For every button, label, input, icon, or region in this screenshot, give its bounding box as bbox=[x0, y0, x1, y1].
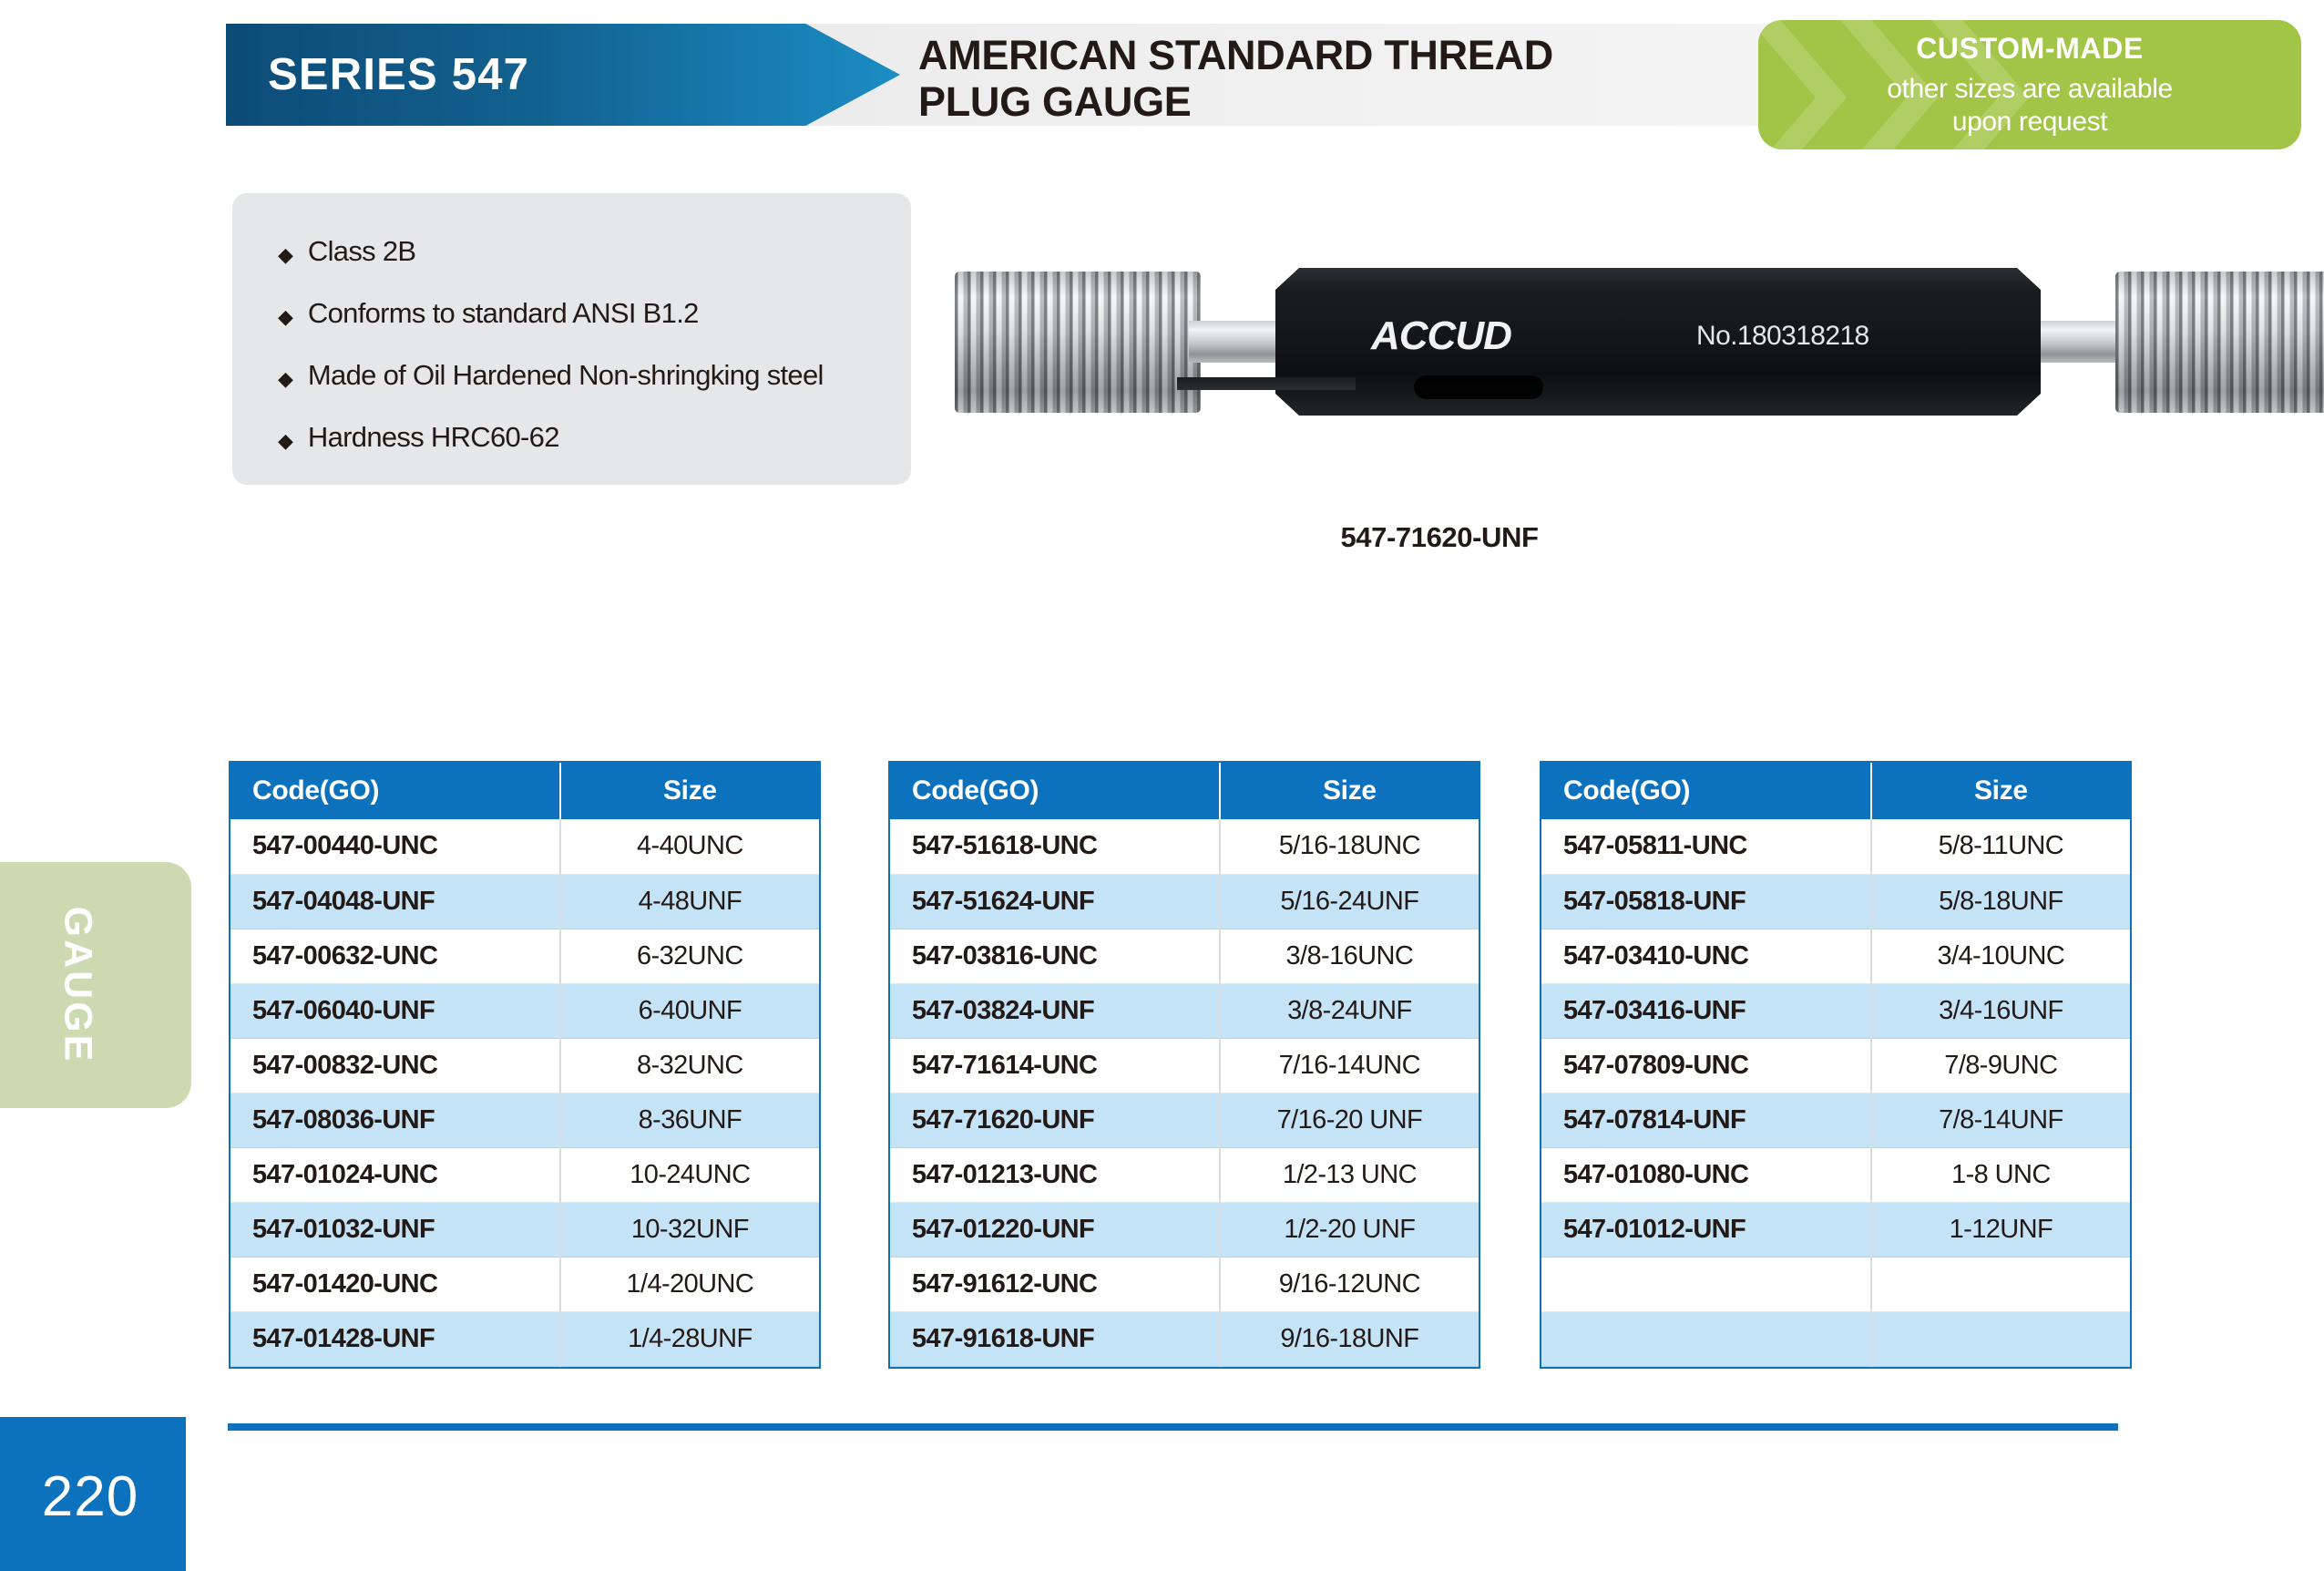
spec-item: ◆ Hardness HRC60-62 bbox=[278, 423, 911, 451]
gauge-tab bbox=[1177, 377, 1356, 390]
spec-item-label: Class 2B bbox=[308, 237, 415, 265]
product-caption: 547-71620-UNF bbox=[947, 521, 1931, 554]
cell-size bbox=[1871, 1311, 2130, 1366]
table-row: 547-00440-UNC4-40UNC bbox=[230, 819, 819, 874]
diamond-bullet-icon: ◆ bbox=[278, 307, 293, 327]
thread-right-icon bbox=[2115, 272, 2324, 413]
table-row bbox=[1541, 1257, 2130, 1311]
product-image: ACCUD No.180318218 bbox=[947, 248, 1931, 435]
column-header-code: Code(GO) bbox=[230, 763, 560, 819]
cell-code: 547-07809-UNC bbox=[1541, 1038, 1871, 1093]
table-header-row: Code(GO) Size bbox=[230, 763, 819, 819]
cell-code: 547-01024-UNC bbox=[230, 1147, 560, 1202]
table-header-row: Code(GO) Size bbox=[890, 763, 1479, 819]
page-number-block: 220 bbox=[0, 1417, 186, 1571]
cell-size: 7/8-9UNC bbox=[1871, 1038, 2130, 1093]
cell-code: 547-01080-UNC bbox=[1541, 1147, 1871, 1202]
cell-size: 1/4-28UNF bbox=[560, 1311, 819, 1366]
cell-code: 547-03410-UNC bbox=[1541, 929, 1871, 983]
table-row: 547-05811-UNC5/8-11UNC bbox=[1541, 819, 2130, 874]
table-header-row: Code(GO) Size bbox=[1541, 763, 2130, 819]
table-row: 547-01428-UNF1/4-28UNF bbox=[230, 1311, 819, 1366]
table-body-2: 547-51618-UNC5/16-18UNC547-51624-UNF5/16… bbox=[890, 819, 1479, 1366]
cell-code bbox=[1541, 1257, 1871, 1311]
cell-size: 10-32UNF bbox=[560, 1202, 819, 1257]
diamond-bullet-icon: ◆ bbox=[278, 245, 293, 265]
cell-code: 547-01213-UNC bbox=[890, 1147, 1220, 1202]
cell-code: 547-01220-UNF bbox=[890, 1202, 1220, 1257]
table-row: 547-01012-UNF1-12UNF bbox=[1541, 1202, 2130, 1257]
table-row: 547-01032-UNF10-32UNF bbox=[230, 1202, 819, 1257]
cell-code: 547-05811-UNC bbox=[1541, 819, 1871, 874]
page-title: AMERICAN STANDARD THREAD PLUG GAUGE bbox=[918, 33, 1766, 126]
specifications-panel: ◆ Class 2B ◆ Conforms to standard ANSI B… bbox=[232, 193, 911, 485]
cell-size: 7/16-20 UNF bbox=[1220, 1093, 1479, 1147]
cell-size: 1-12UNF bbox=[1871, 1202, 2130, 1257]
cell-size: 1/2-13 UNC bbox=[1220, 1147, 1479, 1202]
table-row: 547-03410-UNC3/4-10UNC bbox=[1541, 929, 2130, 983]
product-table-1: Code(GO) Size 547-00440-UNC4-40UNC547-04… bbox=[229, 761, 821, 1369]
table-row: 547-91618-UNF9/16-18UNF bbox=[890, 1311, 1479, 1366]
table-row: 547-07814-UNF7/8-14UNF bbox=[1541, 1093, 2130, 1147]
product-table-3: Code(GO) Size 547-05811-UNC5/8-11UNC547-… bbox=[1540, 761, 2132, 1369]
cell-code: 547-71620-UNF bbox=[890, 1093, 1220, 1147]
cell-code: 547-06040-UNF bbox=[230, 983, 560, 1038]
column-header-size: Size bbox=[560, 763, 819, 819]
cell-size: 8-36UNF bbox=[560, 1093, 819, 1147]
table-row: 547-71614-UNC7/16-14UNC bbox=[890, 1038, 1479, 1093]
cell-size: 1/2-20 UNF bbox=[1220, 1202, 1479, 1257]
footer-rule bbox=[228, 1423, 2118, 1431]
cell-size: 10-24UNC bbox=[560, 1147, 819, 1202]
table-row: 547-00832-UNC8-32UNC bbox=[230, 1038, 819, 1093]
cell-code: 547-01032-UNF bbox=[230, 1202, 560, 1257]
cell-code: 547-51624-UNF bbox=[890, 874, 1220, 929]
table-row: 547-01024-UNC10-24UNC bbox=[230, 1147, 819, 1202]
table-row: 547-03824-UNF3/8-24UNF bbox=[890, 983, 1479, 1038]
cell-code: 547-03824-UNF bbox=[890, 983, 1220, 1038]
cell-size: 1/4-20UNC bbox=[560, 1257, 819, 1311]
cell-size: 3/8-24UNF bbox=[1220, 983, 1479, 1038]
spec-item: ◆ Class 2B bbox=[278, 237, 911, 265]
cell-size: 6-40UNF bbox=[560, 983, 819, 1038]
cell-size: 9/16-12UNC bbox=[1220, 1257, 1479, 1311]
shaft-right bbox=[2032, 321, 2127, 363]
table-row: 547-04048-UNF4-48UNF bbox=[230, 874, 819, 929]
table-body-3: 547-05811-UNC5/8-11UNC547-05818-UNF5/8-1… bbox=[1541, 819, 2130, 1366]
cell-size: 9/16-18UNF bbox=[1220, 1311, 1479, 1366]
cell-size: 3/4-16UNF bbox=[1871, 983, 2130, 1038]
table-row: 547-91612-UNC9/16-12UNC bbox=[890, 1257, 1479, 1311]
badge-subtitle-line2: upon request bbox=[1952, 107, 2107, 137]
spec-item-label: Conforms to standard ANSI B1.2 bbox=[308, 299, 699, 327]
serial-number: No.180318218 bbox=[1696, 321, 1869, 352]
spec-item: ◆ Conforms to standard ANSI B1.2 bbox=[278, 299, 911, 327]
cell-code: 547-00440-UNC bbox=[230, 819, 560, 874]
table-row: 547-01080-UNC1-8 UNC bbox=[1541, 1147, 2130, 1202]
table-row: 547-08036-UNF8-36UNF bbox=[230, 1093, 819, 1147]
cell-code: 547-07814-UNF bbox=[1541, 1093, 1871, 1147]
cell-size: 5/16-24UNF bbox=[1220, 874, 1479, 929]
thread-left-icon bbox=[955, 272, 1201, 413]
cell-code: 547-08036-UNF bbox=[230, 1093, 560, 1147]
diamond-bullet-icon: ◆ bbox=[278, 431, 293, 451]
badge-subtitle-line1: other sizes are available bbox=[1887, 74, 2173, 104]
section-tab-gauge: GAUGE bbox=[0, 862, 191, 1108]
page-title-line1: AMERICAN STANDARD THREAD bbox=[918, 32, 1553, 78]
page-title-line2: PLUG GAUGE bbox=[918, 79, 1766, 126]
gauge-body: ACCUD No.180318218 bbox=[1275, 268, 2041, 416]
table-row: 547-00632-UNC6-32UNC bbox=[230, 929, 819, 983]
catalog-page: SERIES 547 AMERICAN STANDARD THREAD PLUG… bbox=[0, 0, 2324, 1571]
spec-item: ◆ Made of Oil Hardened Non-shringking st… bbox=[278, 361, 911, 389]
cell-size: 8-32UNC bbox=[560, 1038, 819, 1093]
table-row: 547-03416-UNF3/4-16UNF bbox=[1541, 983, 2130, 1038]
cell-code: 547-05818-UNF bbox=[1541, 874, 1871, 929]
table-row: 547-71620-UNF7/16-20 UNF bbox=[890, 1093, 1479, 1147]
cell-code: 547-91618-UNF bbox=[890, 1311, 1220, 1366]
custom-made-badge: CUSTOM-MADE other sizes are available up… bbox=[1758, 20, 2301, 149]
cell-code: 547-51618-UNC bbox=[890, 819, 1220, 874]
cell-code: 547-04048-UNF bbox=[230, 874, 560, 929]
diamond-bullet-icon: ◆ bbox=[278, 369, 293, 389]
cell-size: 4-40UNC bbox=[560, 819, 819, 874]
table-row: 547-03816-UNC3/8-16UNC bbox=[890, 929, 1479, 983]
cell-code: 547-91612-UNC bbox=[890, 1257, 1220, 1311]
gauge-slot bbox=[1414, 375, 1543, 399]
section-tab-label: GAUGE bbox=[56, 907, 100, 1064]
cell-size: 7/8-14UNF bbox=[1871, 1093, 2130, 1147]
badge-title: CUSTOM-MADE bbox=[1916, 32, 2144, 66]
brand-logo: ACCUD bbox=[1371, 313, 1511, 359]
cell-code: 547-03816-UNC bbox=[890, 929, 1220, 983]
cell-size: 5/8-11UNC bbox=[1871, 819, 2130, 874]
table-row: 547-51624-UNF5/16-24UNF bbox=[890, 874, 1479, 929]
cell-size: 5/16-18UNC bbox=[1220, 819, 1479, 874]
cell-code: 547-00832-UNC bbox=[230, 1038, 560, 1093]
cell-code: 547-01428-UNF bbox=[230, 1311, 560, 1366]
shaft-left bbox=[1189, 321, 1285, 363]
spec-item-label: Hardness HRC60-62 bbox=[308, 423, 559, 451]
cell-code: 547-71614-UNC bbox=[890, 1038, 1220, 1093]
table-row: 547-01213-UNC1/2-13 UNC bbox=[890, 1147, 1479, 1202]
cell-size: 6-32UNC bbox=[560, 929, 819, 983]
cell-size: 4-48UNF bbox=[560, 874, 819, 929]
cell-code: 547-03416-UNF bbox=[1541, 983, 1871, 1038]
table-row: 547-51618-UNC5/16-18UNC bbox=[890, 819, 1479, 874]
series-label: SERIES 547 bbox=[226, 49, 529, 100]
cell-code bbox=[1541, 1311, 1871, 1366]
series-banner: SERIES 547 bbox=[226, 24, 900, 126]
page-number: 220 bbox=[15, 1464, 138, 1529]
cell-size: 1-8 UNC bbox=[1871, 1147, 2130, 1202]
table-body-1: 547-00440-UNC4-40UNC547-04048-UNF4-48UNF… bbox=[230, 819, 819, 1366]
badge-subtitle: other sizes are available upon request bbox=[1887, 73, 2173, 138]
column-header-size: Size bbox=[1220, 763, 1479, 819]
spec-item-label: Made of Oil Hardened Non-shringking stee… bbox=[308, 361, 824, 389]
product-table-2: Code(GO) Size 547-51618-UNC5/16-18UNC547… bbox=[888, 761, 1480, 1369]
table-row: 547-01420-UNC1/4-20UNC bbox=[230, 1257, 819, 1311]
cell-size: 7/16-14UNC bbox=[1220, 1038, 1479, 1093]
cell-size: 5/8-18UNF bbox=[1871, 874, 2130, 929]
cell-code: 547-00632-UNC bbox=[230, 929, 560, 983]
table-row: 547-07809-UNC7/8-9UNC bbox=[1541, 1038, 2130, 1093]
cell-code: 547-01012-UNF bbox=[1541, 1202, 1871, 1257]
cell-size: 3/8-16UNC bbox=[1220, 929, 1479, 983]
cell-size bbox=[1871, 1257, 2130, 1311]
cell-code: 547-01420-UNC bbox=[230, 1257, 560, 1311]
table-row: 547-06040-UNF6-40UNF bbox=[230, 983, 819, 1038]
table-row: 547-05818-UNF5/8-18UNF bbox=[1541, 874, 2130, 929]
column-header-code: Code(GO) bbox=[890, 763, 1220, 819]
column-header-code: Code(GO) bbox=[1541, 763, 1871, 819]
table-row: 547-01220-UNF1/2-20 UNF bbox=[890, 1202, 1479, 1257]
table-row bbox=[1541, 1311, 2130, 1366]
cell-size: 3/4-10UNC bbox=[1871, 929, 2130, 983]
column-header-size: Size bbox=[1871, 763, 2130, 819]
